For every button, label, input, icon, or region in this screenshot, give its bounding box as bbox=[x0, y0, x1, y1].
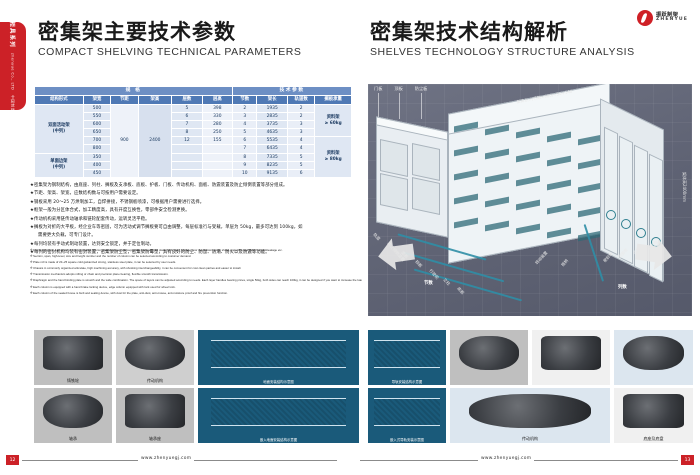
cell-sections: 2 bbox=[233, 105, 257, 113]
note-zh-item: 需要更大负载，可专门设计。 bbox=[30, 232, 360, 240]
tab-dot-icon bbox=[11, 0, 16, 3]
cell-length: 5535 bbox=[257, 137, 287, 145]
cell-width: 450 bbox=[83, 169, 110, 177]
cell-rails: 5 bbox=[287, 161, 314, 169]
callout-dust-panel: 防尘板 bbox=[415, 86, 428, 92]
gallery-caption: 底座及底盘 bbox=[614, 436, 693, 442]
cell-width: 650 bbox=[83, 129, 110, 137]
notes-chinese: ★密集架为钢制结构，由底座、列柱、搁板及支承板、底板、护板、门板、传动机构、面板… bbox=[30, 182, 360, 258]
dimension-height: 架体高2400mm bbox=[681, 172, 687, 202]
rack-left-door-b bbox=[412, 143, 440, 181]
gallery-item: 轴承 bbox=[34, 388, 112, 443]
cell-rails: 4 bbox=[287, 137, 314, 145]
right-title-en: SHELVES TECHNOLOGY STRUCTURE ANALYSIS bbox=[370, 46, 635, 58]
cell-sections: 7 bbox=[233, 145, 257, 153]
grid-line bbox=[368, 293, 692, 294]
product-photo bbox=[623, 336, 683, 370]
cell-sections: 10 bbox=[233, 169, 257, 177]
note-zh-item: ★密集架为钢制结构，由底座、列柱、搁板及支承板、底板、护板、门板、传动机构、面板… bbox=[30, 182, 360, 190]
left-title-zh: 密集架主要技术参数 bbox=[38, 22, 301, 43]
cell-layer_h: 280 bbox=[202, 121, 232, 129]
cell-layer_h: 250 bbox=[202, 129, 232, 137]
note-en-item: ※ Each column of the sealed house is bui… bbox=[30, 291, 362, 297]
gallery-caption: 地面安装结构示意图 bbox=[198, 379, 359, 384]
cell-layer_h bbox=[202, 153, 232, 161]
gallery-caption: 铸铁轮 bbox=[34, 378, 112, 384]
table-column-row: 结构形式 架宽 节距 架高 层数 层高 节数 架长 轨道数 搁板承重 bbox=[35, 96, 352, 105]
cell-width: 600 bbox=[83, 121, 110, 129]
cell-rails: 6 bbox=[287, 169, 314, 177]
table-group-row: 规 格 技术参数 bbox=[35, 87, 352, 96]
cell-width: 400 bbox=[83, 161, 110, 169]
brochure-page: 档案柜具系列 zhenyue Co., LTD 中国制造 品质保证 振跃制架 Z… bbox=[0, 0, 700, 475]
cell-layers bbox=[172, 145, 202, 153]
cell-layers: 8 bbox=[172, 129, 202, 137]
cell-length: 6435 bbox=[257, 145, 287, 153]
table-row: 单面边架(中列)350873355 bbox=[35, 153, 352, 161]
cell-sections: 8 bbox=[233, 153, 257, 161]
col-height: 架高 bbox=[138, 96, 172, 105]
product-photo bbox=[125, 394, 184, 428]
cell-width: 800 bbox=[83, 145, 110, 153]
handwheel-icon bbox=[621, 219, 631, 229]
col-layers: 层数 bbox=[172, 96, 202, 105]
rack-left-door-d bbox=[412, 177, 440, 215]
side-tab-sub-b: 品质保证 bbox=[11, 117, 16, 134]
grid-line bbox=[368, 84, 692, 85]
gallery-item: 地面安装结构示意图 bbox=[198, 330, 359, 385]
part-label-bottom: 摇柄 bbox=[560, 258, 570, 268]
cell-length: 7335 bbox=[257, 153, 287, 161]
cell-layer_h: 155 bbox=[202, 137, 232, 145]
spec-table-head: 规 格 技术参数 结构形式 架宽 节距 架高 层数 层高 节数 架长 轨道数 搁… bbox=[35, 87, 352, 105]
cell-sections: 3 bbox=[233, 113, 257, 121]
cell-width: 350 bbox=[83, 153, 110, 161]
right-title-zh: 密集架技术结构解析 bbox=[370, 22, 635, 43]
cell-length: 3735 bbox=[257, 121, 287, 129]
company-logo: 振跃制架 ZHENYUE bbox=[637, 10, 688, 26]
cell-layers: 12 bbox=[172, 137, 202, 145]
col-load: 搁板承重 bbox=[315, 96, 352, 105]
footer-url-left: www.zhenyuegj.com bbox=[138, 456, 194, 461]
page-number-left: 12 bbox=[6, 455, 19, 465]
group-header-tech: 技术参数 bbox=[233, 87, 352, 96]
cell-length: 1935 bbox=[257, 105, 287, 113]
callout-door-panel: 门板 bbox=[374, 86, 382, 92]
left-title-en: COMPACT SHELVING TECHNICAL PARAMETERS bbox=[38, 46, 301, 58]
rack-left-door-c bbox=[380, 173, 408, 211]
axis-label-columns: 列数 bbox=[618, 284, 627, 290]
direction-arrow-right-icon bbox=[630, 234, 676, 280]
part-label-left: 底板 bbox=[456, 286, 466, 296]
gallery-caption: 嵌入式导轨安装示意图 bbox=[368, 437, 446, 442]
right-panel-header: 密集架技术结构解析 SHELVES TECHNOLOGY STRUCTURE A… bbox=[370, 22, 635, 58]
page-number-right: 13 bbox=[681, 455, 694, 465]
cell-layers bbox=[172, 169, 202, 177]
callout-top-panel: 顶板 bbox=[394, 86, 402, 92]
cell-load: 资料架≥ 80kg bbox=[315, 137, 352, 177]
col-length: 架长 bbox=[257, 96, 287, 105]
gallery-caption: 传动机构 bbox=[450, 436, 610, 442]
gallery-item bbox=[532, 330, 610, 385]
cell-layer_h: 398 bbox=[202, 105, 232, 113]
cell-layer_h bbox=[202, 161, 232, 169]
cell-form: 单面边架(中列) bbox=[35, 153, 84, 177]
note-zh-item: ★框架一般为分区体合式，加工精度高，具有开度互换性，零部件安全检测更换。 bbox=[30, 207, 360, 215]
cell-rails: 3 bbox=[287, 129, 314, 137]
column-panel bbox=[604, 127, 618, 256]
gallery-caption: 轴承座 bbox=[116, 436, 194, 442]
handwheel-icon bbox=[606, 210, 616, 220]
cell-length: 9135 bbox=[257, 169, 287, 177]
product-photo bbox=[125, 336, 184, 370]
cell-length: 8235 bbox=[257, 161, 287, 169]
axis-label-sections: 节数 bbox=[424, 280, 433, 286]
note-zh-item: ★传动机构采用链传动轴承和链轮配套传动，运转灵活平稳。 bbox=[30, 216, 360, 224]
logo-text: 振跃制架 ZHENYUE bbox=[656, 13, 688, 23]
cell-rails: 5 bbox=[287, 153, 314, 161]
gallery-right: 导轨安装结构示意图嵌入式导轨安装示意图传动机构底座及底盘 bbox=[368, 330, 693, 445]
col-form: 结构形式 bbox=[35, 96, 84, 105]
grid-line bbox=[368, 312, 692, 313]
logo-name-en: ZHENYUE bbox=[656, 18, 688, 23]
cell-sections: 4 bbox=[233, 121, 257, 129]
section-drawing bbox=[374, 398, 440, 426]
note-en-item: ※ Diaphragm and the hand binding plate i… bbox=[30, 278, 362, 284]
cell-layer_h bbox=[202, 169, 232, 177]
gallery-caption: 嵌入地面安装结构示意图 bbox=[198, 437, 359, 442]
col-sections: 节数 bbox=[233, 96, 257, 105]
section-drawing bbox=[211, 340, 346, 368]
structure-diagram: 门板 顶板 防尘板 架体长=(节数×900)+50+140 架体高2400mm … bbox=[368, 84, 692, 316]
cell-width: 700 bbox=[83, 137, 110, 145]
left-panel-header: 密集架主要技术参数 COMPACT SHELVING TECHNICAL PAR… bbox=[38, 22, 301, 58]
gallery-caption: 传动机构 bbox=[116, 378, 194, 384]
cell-layer_h bbox=[202, 145, 232, 153]
spec-table: 规 格 技术参数 结构形式 架宽 节距 架高 层数 层高 节数 架长 轨道数 搁… bbox=[34, 86, 352, 178]
gallery-item: 铸铁轮 bbox=[34, 330, 112, 385]
side-tab-content: 档案柜具系列 zhenyue Co., LTD 中国制造 品质保证 bbox=[9, 0, 17, 134]
part-label-right: 密封条 bbox=[602, 251, 614, 264]
gallery-item: 传动机构 bbox=[116, 330, 194, 385]
cell-layers: 7 bbox=[172, 121, 202, 129]
side-tab-company: zhenyue Co., LTD bbox=[11, 53, 15, 90]
gallery-item: 嵌入式导轨安装示意图 bbox=[368, 388, 446, 443]
cell-sections: 9 bbox=[233, 161, 257, 169]
gallery-item bbox=[614, 330, 693, 385]
product-photo bbox=[623, 394, 683, 428]
gallery-item: 导轨安装结构示意图 bbox=[368, 330, 446, 385]
product-photo bbox=[541, 336, 600, 370]
cell-length: 4635 bbox=[257, 129, 287, 137]
diagram-callouts: 门板 顶板 防尘板 bbox=[374, 86, 427, 92]
spec-table-body: 双面活动架(中列)50090024005398219352资料架≥ 60kg55… bbox=[35, 105, 352, 178]
page-footer: 12 www.zhenyuegj.com www.zhenyuegj.com 1… bbox=[0, 452, 700, 472]
gallery-item: 轴承座 bbox=[116, 388, 194, 443]
gallery-caption: 导轨安装结构示意图 bbox=[368, 379, 446, 384]
cell-height: 2400 bbox=[138, 105, 172, 178]
section-drawing bbox=[211, 398, 346, 426]
product-photo bbox=[43, 394, 102, 428]
part-label-left: 行驶轮 bbox=[428, 268, 440, 281]
cell-layers: 5 bbox=[172, 105, 202, 113]
notes-english: ※ Frame structure, it consists of column… bbox=[30, 248, 362, 297]
side-tab-title: 档案柜具系列 bbox=[9, 8, 17, 48]
cell-width: 550 bbox=[83, 113, 110, 121]
cell-rails: 2 bbox=[287, 113, 314, 121]
note-zh-item: ★搁板为对折的大平板，经企业车等密固，可为活动式调节搁板要可自由调整，每层标准行… bbox=[30, 224, 360, 232]
direction-arrow-left-icon bbox=[374, 234, 420, 280]
gallery-left: 铸铁轮传动机构地面安装结构示意图轴承轴承座嵌入地面安装结构示意图 bbox=[34, 330, 359, 445]
grid-line bbox=[368, 84, 369, 316]
col-rails: 轨道数 bbox=[287, 96, 314, 105]
gallery-item: 传动机构 bbox=[450, 388, 610, 443]
col-width: 架宽 bbox=[83, 96, 110, 105]
note-zh-item: ★钢板采用 20～25 万烘制加工，自焊拼接，不锈钢板喷漆，可根据用户需要进行选… bbox=[30, 199, 360, 207]
cell-width: 500 bbox=[83, 105, 110, 113]
cell-sections: 5 bbox=[233, 129, 257, 137]
cell-layers bbox=[172, 153, 202, 161]
cell-rails: 3 bbox=[287, 121, 314, 129]
note-zh-item: ★节距、架高、架宽，应数结构数与可按用户需要设定。 bbox=[30, 190, 360, 198]
gallery-item: 嵌入地面安装结构示意图 bbox=[198, 388, 359, 443]
grid-line bbox=[672, 84, 673, 316]
side-index-tab: 档案柜具系列 zhenyue Co., LTD 中国制造 品质保证 bbox=[0, 22, 26, 110]
cell-layers: 6 bbox=[172, 113, 202, 121]
cell-sections: 6 bbox=[233, 137, 257, 145]
col-layer-height: 层高 bbox=[202, 96, 232, 105]
rack-left-door-a bbox=[380, 139, 408, 177]
cell-pitch: 900 bbox=[111, 105, 138, 178]
cell-length: 2835 bbox=[257, 113, 287, 121]
cell-form: 双面活动架(中列) bbox=[35, 105, 84, 154]
gallery-item bbox=[450, 330, 528, 385]
cell-rails: 2 bbox=[287, 105, 314, 113]
table-row: 双面活动架(中列)50090024005398219352资料架≥ 60kg bbox=[35, 105, 352, 113]
cell-layers bbox=[172, 161, 202, 169]
gallery-item: 底座及底盘 bbox=[614, 388, 693, 443]
footer-url-right: www.zhenyuegj.com bbox=[478, 456, 534, 461]
section-drawing bbox=[374, 340, 440, 368]
cell-rails: 4 bbox=[287, 145, 314, 153]
side-tab-sub-a: 中国制造 bbox=[11, 95, 16, 112]
logo-mark-icon bbox=[637, 10, 653, 26]
part-label-bottom: 转动装置 bbox=[534, 250, 549, 266]
product-photo bbox=[469, 394, 591, 428]
grid-line bbox=[691, 84, 692, 316]
product-photo bbox=[459, 336, 518, 370]
group-header-spec: 规 格 bbox=[35, 87, 233, 96]
cell-layer_h: 330 bbox=[202, 113, 232, 121]
col-pitch: 节距 bbox=[111, 96, 138, 105]
product-photo bbox=[43, 336, 102, 370]
gallery-caption: 轴承 bbox=[34, 436, 112, 442]
cell-load: 资料架≥ 60kg bbox=[315, 105, 352, 137]
